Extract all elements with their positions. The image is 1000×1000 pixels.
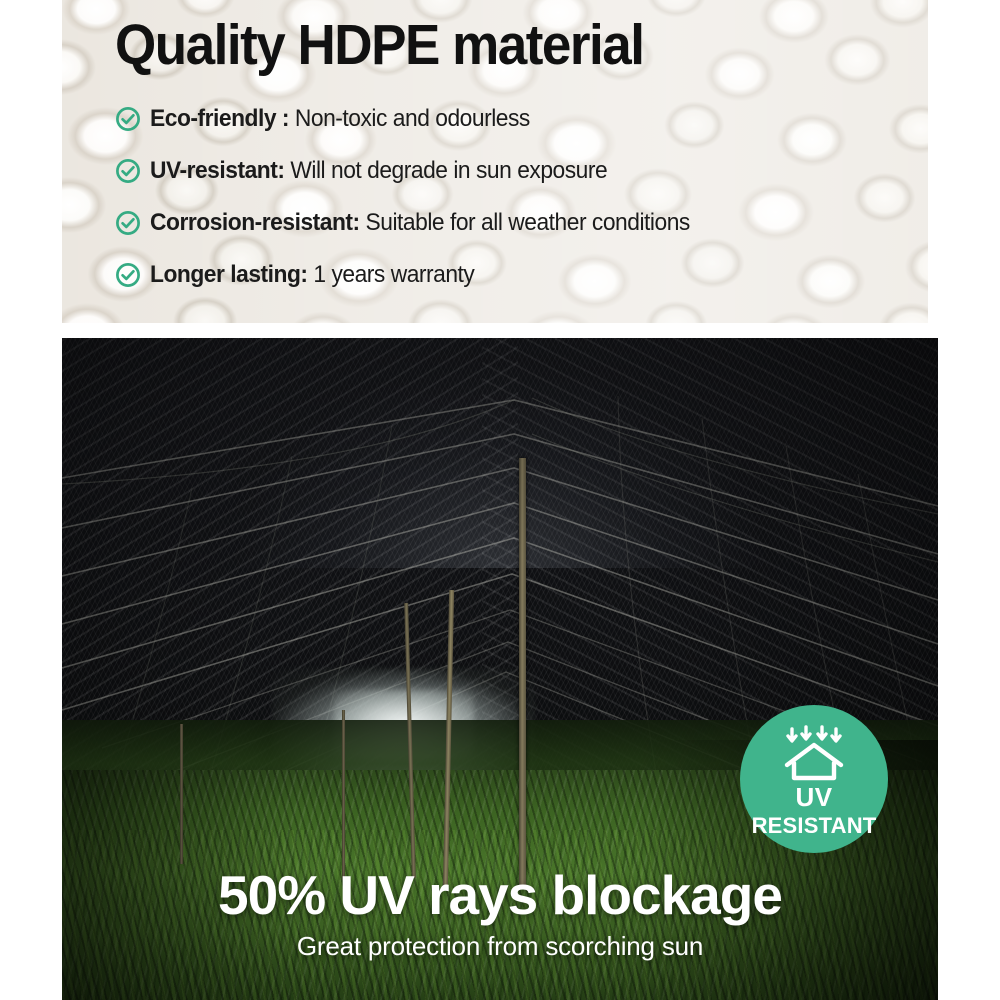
product-feature-image: Quality HDPE material Eco-friendly : Non… xyxy=(0,0,1000,1000)
bullet-text: Corrosion-resistant: Suitable for all we… xyxy=(150,209,690,237)
bullet-text: Longer lasting: 1 years warranty xyxy=(150,261,474,289)
bullet-text: UV-resistant: Will not degrade in sun ex… xyxy=(150,157,607,185)
check-circle-icon xyxy=(115,262,141,288)
check-circle-icon xyxy=(115,210,141,236)
hdpe-pellets-photo-panel: Quality HDPE material Eco-friendly : Non… xyxy=(62,0,928,323)
list-item: UV-resistant: Will not degrade in sun ex… xyxy=(115,145,915,197)
bullet-label: UV-resistant: xyxy=(150,157,290,184)
list-item: Longer lasting: 1 years warranty xyxy=(115,249,915,301)
bullet-label: Corrosion-resistant: xyxy=(150,209,366,236)
overlay-headline: 50% UV rays blockage xyxy=(0,868,1000,923)
list-item: Corrosion-resistant: Suitable for all we… xyxy=(115,197,915,249)
bullet-label: Longer lasting: xyxy=(150,261,313,288)
badge-line-1: UV xyxy=(795,784,832,810)
bullet-description: Will not degrade in sun exposure xyxy=(290,157,607,184)
badge-line-2: RESISTANT xyxy=(752,815,877,837)
list-item: Eco-friendly : Non-toxic and odourless xyxy=(115,93,915,145)
uv-house-rays-icon xyxy=(777,725,851,781)
check-circle-icon xyxy=(115,158,141,184)
bullet-label: Eco-friendly : xyxy=(150,105,295,132)
bullet-description: 1 years warranty xyxy=(313,261,474,288)
bullet-text: Eco-friendly : Non-toxic and odourless xyxy=(150,105,530,133)
bullet-description: Non-toxic and odourless xyxy=(295,105,530,132)
overlay-subtitle: Great protection from scorching sun xyxy=(0,933,1000,959)
uv-resistant-badge: UV RESISTANT xyxy=(740,705,888,853)
bullet-description: Suitable for all weather conditions xyxy=(366,209,690,236)
feature-bullet-list: Eco-friendly : Non-toxic and odourless U… xyxy=(115,93,915,301)
page-title: Quality HDPE material xyxy=(115,17,644,74)
top-section-content: Quality HDPE material Eco-friendly : Non… xyxy=(62,0,928,323)
check-circle-icon xyxy=(115,106,141,132)
